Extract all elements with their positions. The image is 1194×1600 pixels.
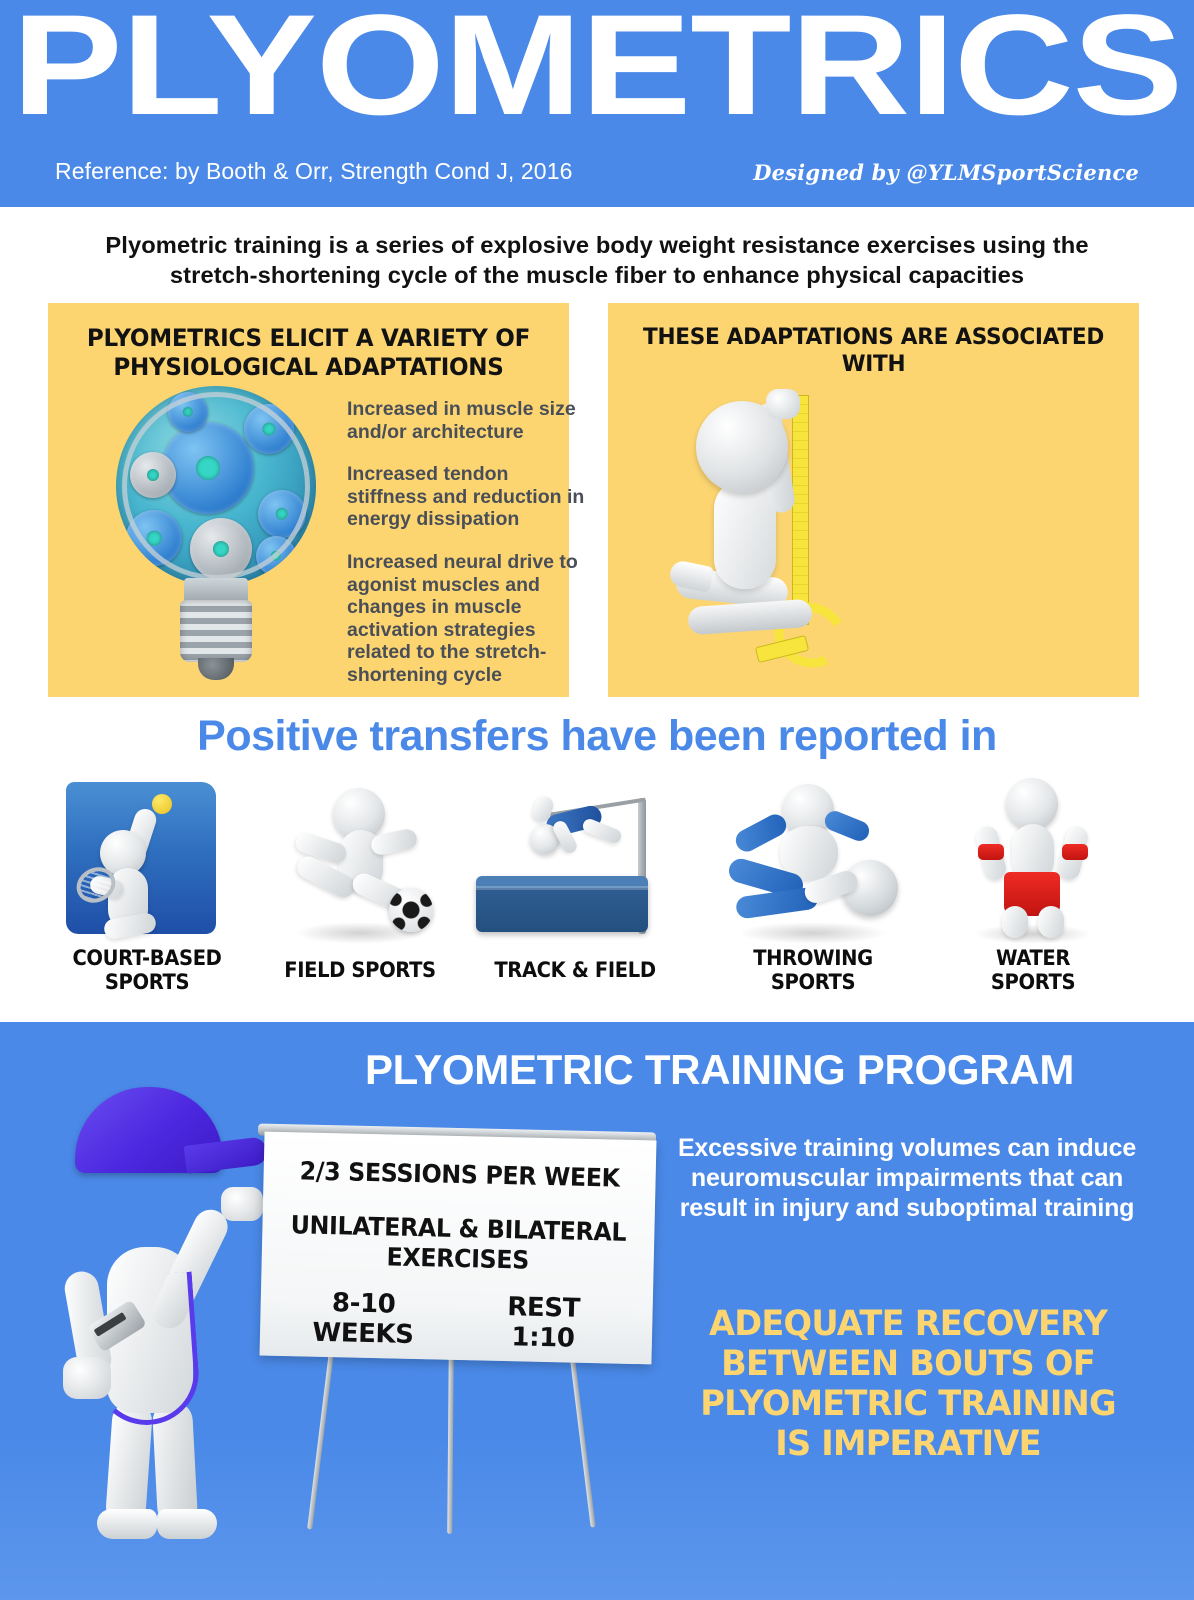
swimmer-icon [928,772,1138,947]
board-sessions-text: 2/3 SESSIONS PER WEEK [273,1156,646,1193]
adaptations-panel: PLYOMETRICS ELICIT A VARIETY OF PHYSIOLO… [48,303,569,697]
recovery-line-1: ADEQUATE RECOVERY [672,1305,1144,1345]
figure-torso [714,479,776,589]
figure-leg [1038,906,1064,938]
coach-hand [221,1187,263,1221]
sport-label-line-1: WATER [935,947,1130,971]
sport-item-throwing-sports: THROWING SPORTS [708,772,918,994]
sport-label: THROWING SPORTS [715,947,910,994]
sport-item-court-based: COURT-BASED SPORTS [42,772,252,994]
soccer-ball-icon [389,888,433,932]
intro-line-1: Plyometric training is a series of explo… [0,230,1194,260]
reference-text: Reference: by Booth & Orr, Strength Cond… [55,158,572,185]
gear-icon [168,392,208,432]
figure-shadow [974,924,1092,944]
board-weeks-line-1: 8-10 [288,1288,439,1321]
board-exercises-text: UNILATERAL & BILATERAL EXERCISES [271,1210,645,1278]
sport-label-line-1: THROWING [715,947,910,971]
board-rest-text: REST 1:10 [468,1292,619,1355]
gear-icon [258,490,306,538]
lightbulb-screw-base [180,600,252,662]
gear-icon [126,510,182,566]
designer-credit: Designed by @YLMSportScience [753,160,1139,185]
sport-label-line-1: FIELD SPORTS [262,959,457,983]
list-item: Increased neural drive to agonist muscle… [347,551,587,687]
transfers-heading: Positive transfers have been reported in [0,712,1194,761]
sport-label-line-1: TRACK & FIELD [477,959,672,983]
intro-description: Plyometric training is a series of explo… [0,230,1194,291]
gear-icon [244,404,294,454]
sport-item-water-sports: WATER SPORTS [928,772,1138,994]
tennis-player-icon [42,772,252,947]
sport-item-track-field: TRACK & FIELD [470,772,680,983]
coach-foot [97,1509,157,1539]
figure-leg [1002,906,1028,938]
soccer-player-icon [255,772,465,947]
recovery-line-2: BETWEEN BOUTS OF [672,1345,1144,1385]
sport-label: FIELD SPORTS [262,959,457,983]
sport-label-line-2: SPORTS [49,971,244,995]
sport-label-line-2: SPORTS [935,971,1130,995]
tennis-ball-icon [152,794,172,814]
recovery-line-3: PLYOMETRIC TRAINING [672,1385,1144,1425]
lightbulb-gears-icon [106,386,326,686]
figure-hand [766,389,800,419]
board-weeks-text: 8-10 WEEKS [288,1288,439,1351]
board-rest-line-1: REST [468,1292,619,1325]
adaptations-heading-line-1: PLYOMETRICS ELICIT A VARIETY OF [58,324,558,353]
infographic-poster: PLYOMETRICS Reference: by Booth & Orr, S… [0,0,1194,1600]
sport-item-field-sports: FIELD SPORTS [255,772,465,983]
associations-panel: THESE ADAPTATIONS ARE ASSOCIATED WITH Im… [608,303,1139,697]
coach-hand [63,1357,111,1399]
adaptations-list: Increased in muscle size and/or architec… [347,398,587,707]
gear-icon [256,536,296,576]
high-jumper-icon [470,772,680,947]
figure-foot [668,559,714,593]
figure-shadow [738,922,888,944]
arm-band-icon [978,844,1004,860]
page-title: PLYOMETRICS [0,0,1194,137]
landing-mat [476,876,648,932]
adaptations-panel-heading: PLYOMETRICS ELICIT A VARIETY OF PHYSIOLO… [58,324,558,383]
sport-label-line-1: COURT-BASED [49,947,244,971]
intro-line-2: stretch-shortening cycle of the muscle f… [0,260,1194,290]
shot-put-thrower-icon [708,772,918,947]
board-weeks-line-2: WEEKS [288,1318,439,1351]
board-rest-line-2: 1:10 [468,1322,619,1355]
warning-text: Excessive training volumes can induce ne… [672,1133,1142,1223]
lightbulb-tip [198,658,234,680]
sport-label: COURT-BASED SPORTS [49,947,244,994]
measuring-tape-icon [792,395,809,625]
measuring-tape-figure-icon [670,367,920,679]
header-banner: PLYOMETRICS Reference: by Booth & Orr, S… [0,0,1194,207]
sport-label-line-2: SPORTS [715,971,910,995]
adaptations-heading-line-2: PHYSIOLOGICAL ADAPTATIONS [58,353,558,382]
list-item: Increased tendon stiffness and reduction… [347,463,587,531]
recovery-message: ADEQUATE RECOVERY BETWEEN BOUTS OF PLYOM… [672,1305,1144,1465]
list-item: Increased in muscle size and/or architec… [347,398,587,443]
sports-row: COURT-BASED SPORTS FIELD SPORTS [0,772,1194,1022]
arm-band-icon [1062,844,1088,860]
lightbulb-glass [116,386,316,586]
gear-icon [130,452,176,498]
gear-icon [162,422,254,514]
coach-figure-icon [45,1085,295,1545]
sport-label: WATER SPORTS [935,947,1130,994]
sport-label: TRACK & FIELD [477,959,672,983]
jumper-leg [581,817,623,845]
recovery-line-4: IS IMPERATIVE [672,1425,1144,1465]
gear-icon [190,518,252,580]
figure-head [1006,778,1058,830]
flipchart-board: 2/3 SESSIONS PER WEEK UNILATERAL & BILAT… [260,1132,657,1365]
coach-foot [157,1509,217,1539]
